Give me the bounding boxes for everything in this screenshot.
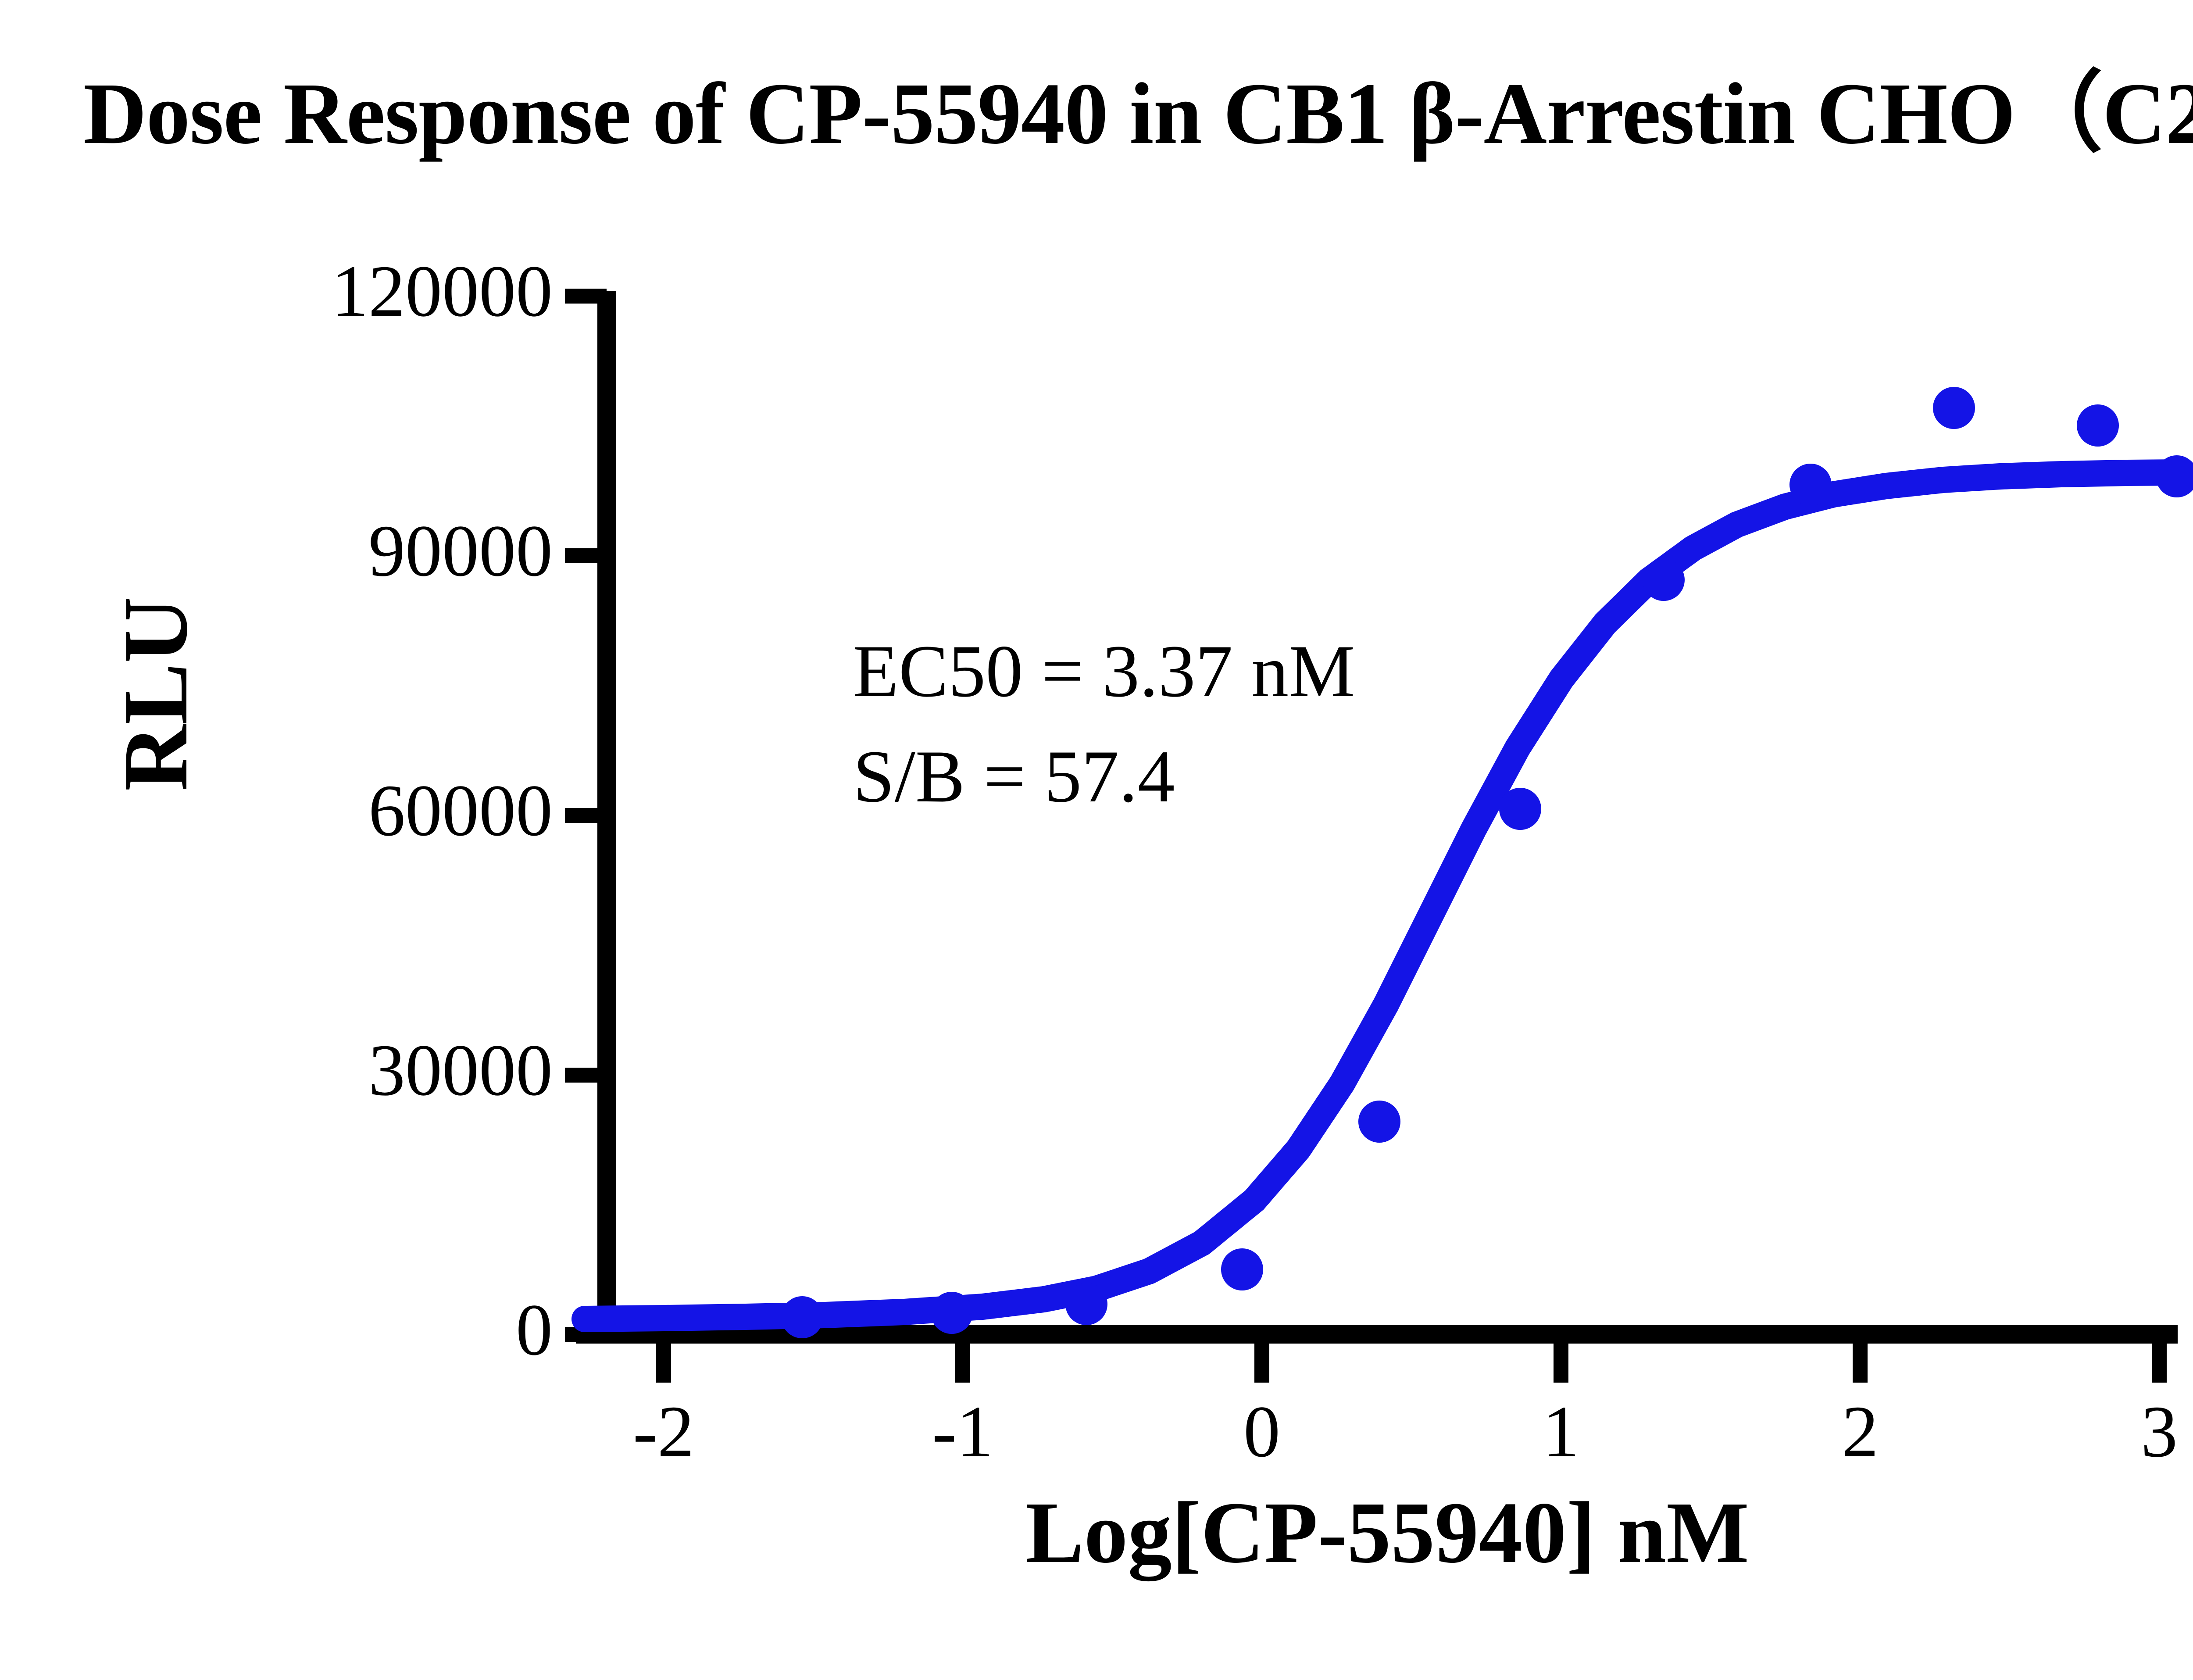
y-tick-label-90000: 90000 [228,514,553,588]
y-tick-label-0: 0 [228,1293,553,1367]
y-tick-label-120000: 120000 [228,254,553,328]
data-point [1499,788,1541,830]
y-tick-label-30000: 30000 [228,1033,553,1107]
plot-area: 120000 90000 60000 30000 0 -2 -1 0 1 2 3… [0,0,2193,1680]
x-axis-title: Log[CP-55940] nM [576,1487,2193,1579]
annotation-block: EC50 = 3.37 nM S/B = 57.4 [853,618,1355,829]
x-tick-label-1: 1 [1473,1395,1649,1469]
x-tick-label-3: 3 [2072,1395,2193,1469]
data-point [1643,559,1685,601]
data-point [1789,464,1832,506]
data-point [1065,1283,1107,1325]
data-point [931,1292,973,1334]
annotation-sb: S/B = 57.4 [853,724,1355,829]
figure-canvas: Dose Response of CP-55940 in CB1 β-Arres… [0,0,2193,1680]
fit-curve [585,472,2178,1319]
data-point [1933,387,1975,429]
x-tick-label-minus1: -1 [875,1395,1050,1469]
data-point [2077,404,2119,447]
data-point-series [781,387,2193,1338]
x-tick-label-2: 2 [1772,1395,1948,1469]
data-point [781,1296,823,1338]
x-tick-label-minus2: -2 [576,1395,751,1469]
y-tick-label-60000: 60000 [228,774,553,847]
annotation-ec50: EC50 = 3.37 nM [853,618,1355,724]
data-point [1358,1101,1400,1143]
y-axis-title: RLU [110,597,202,791]
x-axis-ticks [664,1343,2159,1383]
data-point [1221,1248,1263,1290]
x-tick-label-0: 0 [1174,1395,1350,1469]
